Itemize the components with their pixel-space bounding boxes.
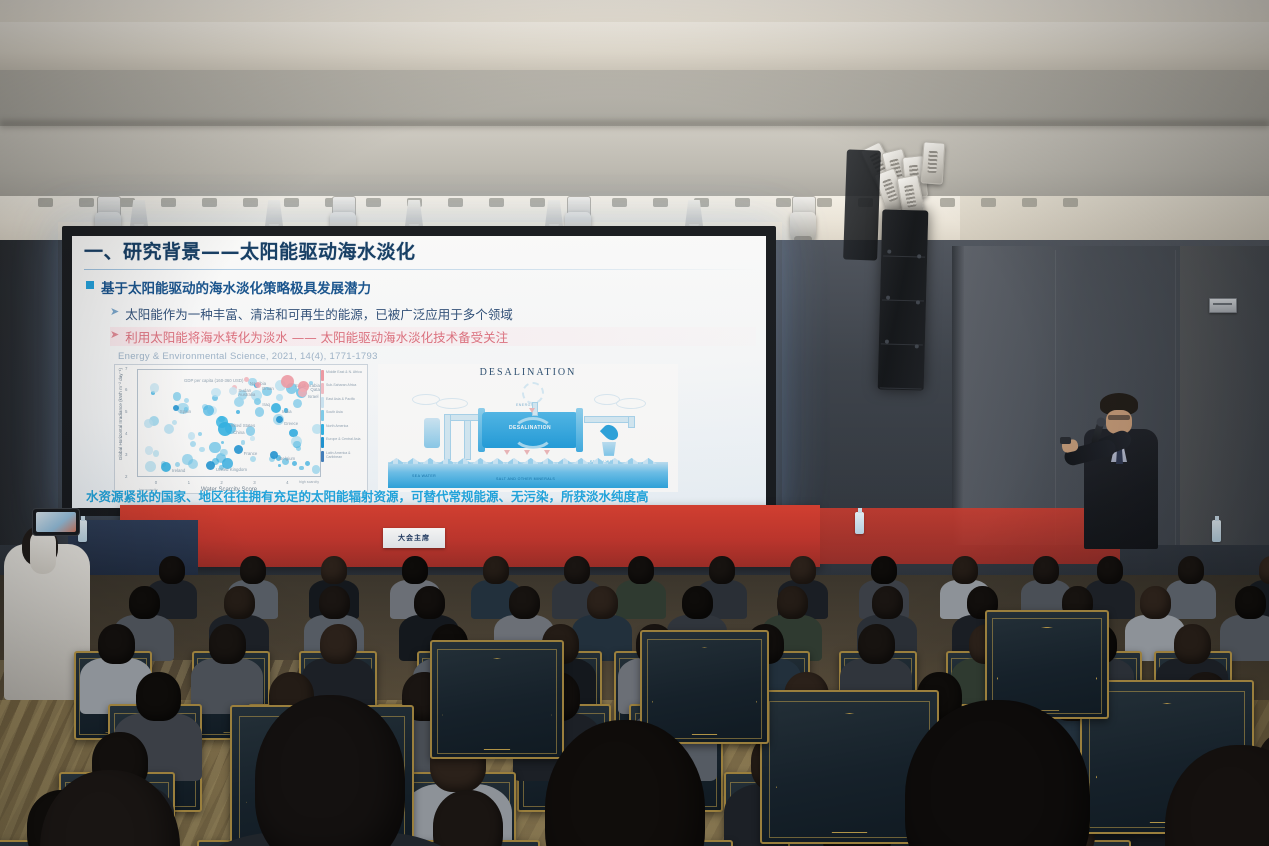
process-ring-icon: [512, 417, 554, 449]
energy-arrow-icon: [529, 408, 535, 413]
chart-x-tick: 1: [188, 480, 190, 485]
chart-high-scarcity-note: high scarcity: [299, 480, 319, 484]
ceiling-vent: [366, 198, 381, 207]
ceiling-vent: [243, 198, 258, 207]
fresh-water-glass-icon: [602, 442, 616, 456]
audience-shoulders: [1166, 580, 1217, 619]
chart-bubble-france: [234, 445, 243, 454]
chart-legend-item: Sub-Saharan Africa: [321, 383, 365, 394]
legend-label: South Asia: [326, 410, 343, 414]
chart-bubble: [250, 456, 256, 462]
cloud-icon-4: [616, 398, 646, 409]
chart-bubble: [211, 388, 220, 397]
audience-head: [402, 556, 428, 584]
chart-bubble-greece: [276, 416, 283, 423]
slide-sub-bullet-1: ➤ 太阳能作为一种丰富、清洁和可再生的能源，已被广泛应用于多个领域: [110, 304, 756, 323]
chart-bubble: [246, 426, 255, 435]
audience-head: [483, 556, 509, 584]
audience-head: [1178, 556, 1204, 584]
audience-head: [98, 624, 135, 664]
audience-shoulders: [616, 580, 667, 619]
water-droplet-icon: [600, 422, 621, 443]
chart-bubble: [221, 441, 224, 444]
chart-plot-area: GDP per capita (160-360 USD) NamibiaOman…: [137, 369, 321, 477]
phone-screen: [36, 512, 76, 532]
slide-main-bullet: 基于太阳能驱动的海水淡化策略极具发展潜力: [86, 277, 756, 297]
desalination-title: DESALINATION: [378, 367, 678, 378]
ceiling-beam-lower: [0, 126, 1269, 206]
chart-legend: Middle East & N. AfricaSub-Saharan Afric…: [321, 370, 365, 465]
chart-x-tick: 0: [155, 480, 157, 485]
chart-legend-item: South Asia: [321, 410, 365, 421]
chart-bubble-united-kingdom: [206, 461, 215, 470]
audience-head: [564, 556, 590, 584]
chart-bubble: [199, 447, 205, 453]
chart-y-tick: 5: [125, 409, 127, 414]
wall-panel-seam: [1055, 250, 1056, 550]
chart-bubble: [188, 432, 195, 439]
presentation-slide: 一、研究背景——太阳能驱动海水淡化 基于太阳能驱动的海水淡化策略极具发展潜力 ➤…: [72, 236, 766, 508]
product-pipe-down: [628, 416, 635, 428]
desalination-diagram: DESALINATION ENERGY DESALINATION: [378, 364, 678, 492]
ceiling-beam-upper: [0, 22, 1269, 72]
audience-head: [136, 672, 181, 721]
name-card-text: 大会主席: [398, 533, 430, 543]
audience-head: [320, 624, 357, 664]
chart-bubble-namibia: [244, 377, 249, 382]
chart-bubble-spain: [173, 405, 179, 411]
title-divider: [84, 269, 756, 270]
audience-head: [159, 556, 185, 584]
audience-head: [790, 556, 816, 584]
legend-label: East Asia & Pacific: [326, 397, 355, 401]
ceiling-vent: [612, 198, 627, 207]
chart-bubble-israel: [298, 388, 307, 397]
pretreatment-tank: [424, 418, 440, 448]
brine-arrow-2: [524, 450, 530, 455]
sub-bullet-1-text: 太阳能作为一种丰富、清洁和可再生的能源，已被广泛应用于多个领域: [125, 304, 513, 323]
legend-label: North America: [326, 424, 348, 428]
audience-head: [858, 624, 895, 664]
slide-title: 一、研究背景——太阳能驱动海水淡化: [84, 242, 756, 264]
audience-head: [952, 556, 978, 584]
chart-point-label: Australia: [238, 392, 255, 397]
conference-hall-photo: 一、研究背景——太阳能驱动海水淡化 基于太阳能驱动的海水淡化策略极具发展潜力 ➤…: [0, 0, 1269, 846]
photographer-arm: [30, 530, 56, 574]
wall-sign: [1209, 298, 1237, 313]
chart-bubble: [296, 446, 301, 451]
ceiling-vent: [653, 198, 668, 207]
ceiling-vent: [776, 198, 791, 207]
chart-point-label: Israel: [308, 394, 319, 399]
chart-point-label: China: [233, 430, 244, 435]
chart-legend-item: East Asia & Pacific: [321, 397, 365, 408]
audience-head: [1033, 556, 1059, 584]
ceiling-vent: [1063, 198, 1078, 207]
arrow-right-icon: ➤: [110, 305, 119, 318]
ceiling-vent: [981, 198, 996, 207]
audience-head: [414, 586, 445, 619]
chart-y-tick: 6: [125, 387, 127, 392]
ceiling-vent: [161, 198, 176, 207]
audience-head: [709, 556, 735, 584]
ceiling-vent: [817, 198, 832, 207]
presentation-clicker-icon: [1060, 437, 1071, 444]
right-wall-warm-light: [1180, 246, 1269, 546]
legend-label: Latin America & Caribbean: [326, 451, 365, 460]
audience-head: [1097, 556, 1123, 584]
audience-head: [777, 586, 808, 619]
chart-bubble: [305, 461, 310, 466]
legend-label: Europe & Central Asia: [326, 437, 360, 441]
ceiling-vent: [489, 198, 504, 207]
chart-point-label: Belgium: [279, 456, 295, 461]
legend-swatch: [321, 383, 324, 394]
legend-swatch: [321, 424, 324, 435]
ceiling-vent: [530, 198, 545, 207]
unit-end-cap-right: [576, 408, 583, 452]
ceiling-vent: [38, 198, 53, 207]
projection-screen: 一、研究背景——太阳能驱动海水淡化 基于太阳能驱动的海水淡化策略极具发展潜力 ➤…: [72, 236, 766, 508]
audience-head: [321, 556, 347, 584]
ceiling-vent: [284, 198, 299, 207]
chart-bubble: [276, 394, 283, 401]
chart-point-label: India: [282, 409, 292, 414]
chart-bubble: [153, 450, 160, 457]
audience-head: [1140, 586, 1171, 619]
brine-arrow-3: [544, 450, 550, 455]
ceiling-vent: [1022, 198, 1037, 207]
audience-head: [871, 556, 897, 584]
chart-bubble: [188, 459, 198, 469]
sea-water-label: SEA WATER: [412, 474, 436, 478]
brine-label: SALT AND OTHER MINERALS: [496, 477, 555, 481]
chart-bubble: [250, 436, 254, 440]
ceiling-spotlight: [790, 196, 816, 242]
presenter-glasses: [1108, 415, 1130, 420]
intake-pipe-down: [444, 414, 451, 460]
chart-bubble-iraq: [254, 398, 261, 405]
chart-bubble-india: [271, 403, 281, 413]
audience-head: [240, 556, 266, 584]
chart-bubble-ireland: [161, 462, 171, 472]
chart-bubble: [236, 410, 240, 414]
chart-bubble: [175, 462, 180, 467]
water-bottle-2: [855, 512, 864, 534]
line-array-speaker-upper: [843, 149, 881, 260]
bubble-scatter-chart: Global Horizontal Irradiance (kWh m⁻² da…: [114, 364, 368, 494]
chart-point-label: Spain: [180, 409, 191, 414]
slide-bottom-text: 水资源紧张的国家、地区往往拥有充足的太阳能辐射资源，可替代常规能源、无污染，所获…: [86, 486, 756, 505]
audience-head: [1235, 586, 1266, 619]
name-card: 大会主席: [383, 528, 445, 548]
chart-point-label: Iraq: [262, 402, 270, 407]
chart-legend-item: North America: [321, 424, 365, 435]
chart-legend-item: Latin America & Caribbean: [321, 451, 365, 462]
head-table-red-cloth-right: [820, 508, 1120, 564]
chart-bubble-oman: [255, 382, 261, 388]
audience-head: [224, 586, 255, 619]
chart-bubble: [145, 461, 156, 472]
ceiling-vent: [202, 198, 217, 207]
chart-bubble-australia: [229, 387, 237, 395]
ceiling-vent: [448, 198, 463, 207]
audience-head: [1174, 624, 1211, 664]
chart-bubble: [278, 464, 281, 467]
chart-y-tick: 3: [125, 452, 127, 457]
chart-point-label: United Kingdom: [216, 467, 247, 472]
water-bottle-3: [1212, 520, 1221, 542]
chart-legend-item: Europe & Central Asia: [321, 437, 365, 448]
line-array-speaker: [878, 209, 929, 390]
chart-x-tick: 3: [253, 480, 255, 485]
banquet-chair-foreground: [430, 640, 564, 759]
chart-point-label: Qatar: [310, 387, 321, 392]
energy-label: ENERGY: [516, 403, 534, 407]
chart-bubble: [150, 383, 160, 393]
slide-citation: Energy & Environmental Science, 2021, 14…: [118, 351, 756, 362]
chart-point-label: France: [244, 451, 258, 456]
chart-bubble: [293, 399, 302, 408]
audience-head: [129, 586, 160, 619]
brine-arrow-1: [504, 450, 510, 455]
moving-head-light-cluster: [866, 140, 966, 220]
legend-swatch: [321, 397, 324, 408]
chart-bubble-china: [218, 422, 232, 436]
ceiling-vent: [735, 198, 750, 207]
legend-swatch: [321, 410, 324, 421]
chart-bubble: [292, 461, 297, 466]
chart-bubble: [144, 419, 153, 428]
chart-bubble: [209, 442, 220, 453]
legend-swatch: [321, 451, 324, 462]
chart-point-label: United States: [229, 423, 255, 428]
chart-y-tick: 7: [125, 366, 127, 371]
slide-sub-bullet-2: ➤ 利用太阳能将海水转化为淡水 —— 太阳能驱动海水淡化技术备受关注: [110, 327, 756, 346]
chart-point-label: Greece: [284, 421, 298, 426]
audience-head: [509, 586, 540, 619]
chart-point-label: Ireland: [172, 468, 185, 473]
chart-bubble: [190, 441, 196, 447]
presenter: [1078, 396, 1164, 548]
chart-legend-item: Middle East & N. Africa: [321, 370, 365, 381]
chart-y-tick: 2: [125, 474, 127, 479]
audience-head: [587, 586, 618, 619]
audience-head: [682, 586, 713, 619]
legend-label: Middle East & N. Africa: [326, 370, 362, 374]
chart-bubble: [312, 424, 321, 434]
chart-bubble: [164, 424, 174, 434]
audience-head: [628, 556, 654, 584]
main-bullet-text: 基于太阳能驱动的海水淡化策略极具发展潜力: [101, 277, 371, 297]
chart-size-legend-note: GDP per capita (160-360 USD): [184, 378, 243, 384]
slide-figures: Global Horizontal Irradiance (kWh m⁻² da…: [84, 364, 756, 494]
ceiling-shadow: [0, 120, 1269, 128]
chart-x-tick: 4: [286, 480, 288, 485]
feed-pipe: [464, 420, 471, 460]
chart-bubble: [312, 465, 321, 474]
legend-label: Sub-Saharan Africa: [326, 383, 356, 387]
bullet-square-icon: [86, 281, 94, 289]
product-pipe: [584, 416, 634, 423]
wall-panel-seam-2: [1175, 250, 1176, 550]
legend-swatch: [321, 437, 324, 448]
legend-swatch: [321, 370, 324, 381]
audience-head: [209, 624, 246, 664]
chart-bubble: [198, 432, 202, 436]
chart-y-tick: 4: [125, 431, 127, 436]
audience-head: [872, 586, 903, 619]
chart-bubble: [299, 466, 304, 471]
foreground-head: [255, 695, 405, 846]
chart-bubble: [241, 440, 246, 445]
arrow-right-icon-2: ➤: [110, 328, 119, 341]
ceiling-vent: [79, 198, 94, 207]
chart-bubble: [255, 407, 264, 416]
smartphone-icon: [32, 508, 80, 536]
sub-bullet-2-text: 利用太阳能将海水转化为淡水 —— 太阳能驱动海水淡化技术备受关注: [125, 327, 508, 346]
audience-head: [319, 586, 350, 619]
cloud-icon-2: [436, 398, 468, 409]
chart-x-tick: 2: [220, 480, 222, 485]
chart-bubble: [173, 392, 182, 401]
chart-bubble: [172, 420, 177, 425]
chart-bubble: [203, 405, 214, 416]
desalination-unit: DESALINATION: [482, 412, 578, 448]
unit-label: DESALINATION: [492, 425, 568, 431]
chart-point-label: Oman: [262, 386, 274, 391]
sun-energy-icon: [522, 382, 544, 404]
chart-bubble: [145, 446, 154, 455]
